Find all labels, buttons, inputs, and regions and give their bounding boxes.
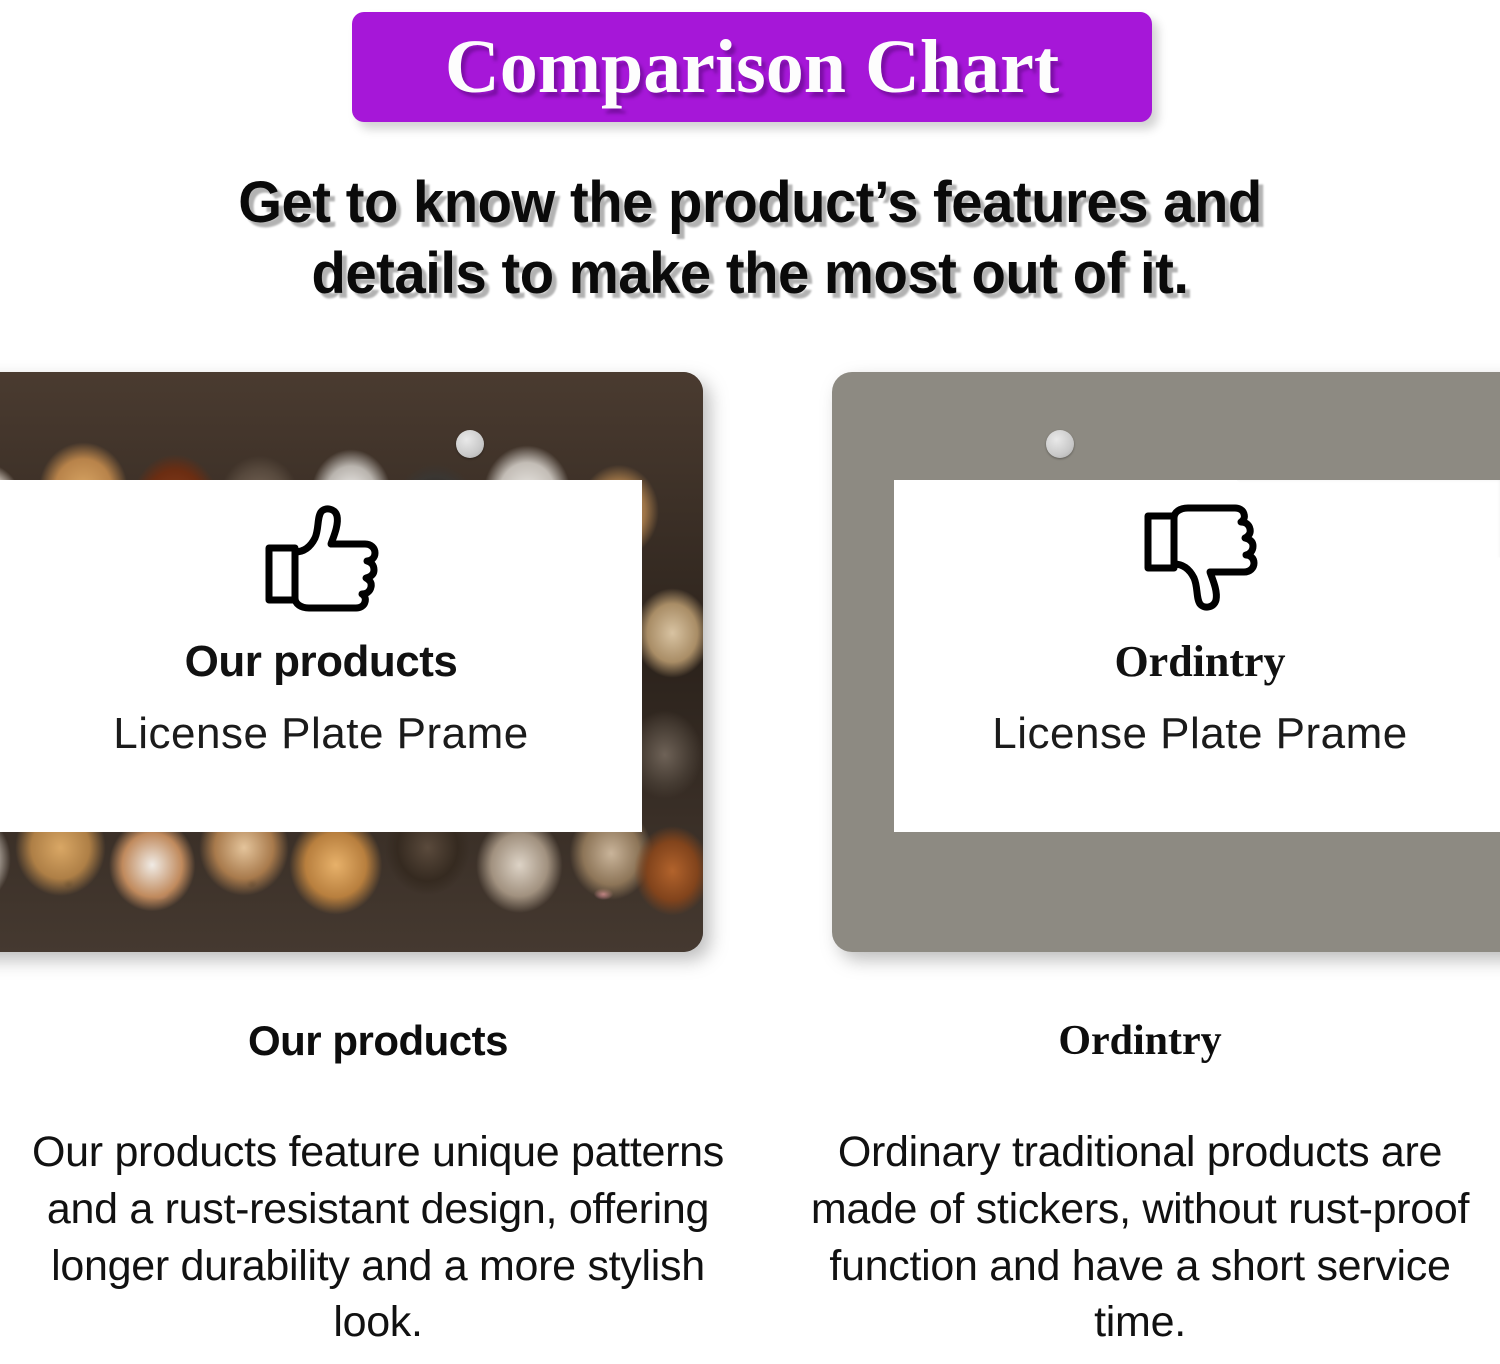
- license-plate-frame-body: Ordintry License Plate Prame: [832, 372, 1500, 952]
- thumbs-up-icon: [261, 502, 381, 614]
- subtitle-line-2: details to make the most out of it.: [23, 239, 1478, 310]
- license-plate-frame-body: Our products License Plate Prame: [0, 372, 703, 952]
- summary-title: Ordintry: [790, 1020, 1490, 1062]
- ordinary-product-summary: Ordintry Ordinary traditional products a…: [790, 1020, 1490, 1351]
- frame-brand-label: Our products: [185, 640, 458, 684]
- frame-brand-label: Ordintry: [1114, 640, 1285, 684]
- ordinary-product-frame: Ordintry License Plate Prame: [832, 372, 1500, 952]
- comparison-chart-page: Comparison Chart Get to know the product…: [0, 0, 1500, 1364]
- frame-product-name: License Plate Prame: [113, 712, 529, 756]
- plate-window: Our products License Plate Prame: [0, 480, 642, 832]
- summary-body: Our products feature unique patterns and…: [28, 1124, 728, 1351]
- subtitle-line-1: Get to know the product’s features and: [23, 168, 1478, 239]
- product-frames-row: Our products License Plate Prame: [0, 372, 1500, 952]
- title-banner: Comparison Chart: [352, 12, 1152, 122]
- plate-window-content: Our products License Plate Prame: [0, 480, 642, 832]
- page-title: Comparison Chart: [445, 29, 1059, 105]
- frame-product-name: License Plate Prame: [992, 712, 1408, 756]
- thumbs-down-icon: [1140, 502, 1260, 614]
- mounting-hole: [456, 430, 484, 458]
- subtitle: Get to know the product’s features and d…: [0, 168, 1500, 310]
- summary-title: Our products: [28, 1020, 728, 1062]
- summary-row: Our products Our products feature unique…: [0, 1020, 1500, 1364]
- summary-body: Ordinary traditional products are made o…: [790, 1124, 1490, 1351]
- mounting-hole: [1046, 430, 1074, 458]
- plate-window: Ordintry License Plate Prame: [894, 480, 1500, 832]
- plate-window-content: Ordintry License Plate Prame: [894, 480, 1500, 832]
- our-product-summary: Our products Our products feature unique…: [28, 1020, 728, 1351]
- our-product-frame: Our products License Plate Prame: [0, 372, 703, 952]
